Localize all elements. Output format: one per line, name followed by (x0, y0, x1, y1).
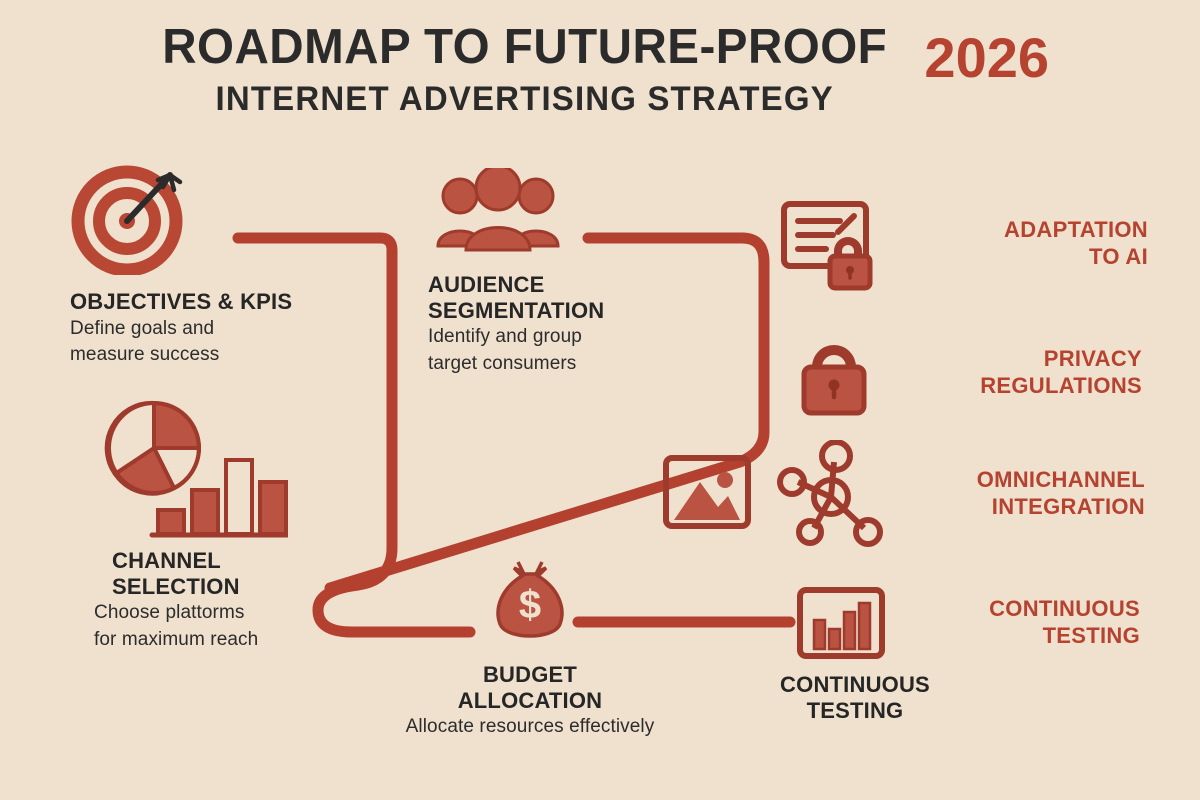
step-objectives-desc-2: measure success (70, 343, 370, 367)
right-label-testing-2: TESTING (989, 623, 1140, 650)
right-item-continuous-testing[interactable]: CONTINUOUS TESTING (795, 585, 1140, 661)
step-audience[interactable]: AUDIENCE SEGMENTATION Identify and group… (428, 168, 688, 376)
right-label-adaptation-1: ADAPTATION (1004, 217, 1148, 244)
step-budget-title-2: ALLOCATION (370, 688, 690, 714)
step-testing-dark-title-2: TESTING (740, 698, 970, 724)
infographic-canvas: ROADMAP TO FUTURE-PROOF INTERNET ADVERTI… (0, 0, 1200, 800)
step-objectives-desc-1: Define goals and (70, 317, 370, 341)
document-lock-icon (778, 196, 883, 291)
step-budget-title-1: BUDGET (370, 662, 690, 688)
step-channel-desc-1: Choose plattorms (94, 601, 358, 625)
step-objectives[interactable]: OBJECTIVES & KPIS Define goals and measu… (70, 160, 370, 367)
step-channel-desc-2: for maximum reach (94, 628, 358, 652)
bar-chart-frame-icon (795, 585, 887, 661)
right-item-privacy[interactable]: PRIVACY REGULATIONS (792, 325, 1142, 420)
step-audience-title-2: SEGMENTATION (428, 298, 688, 324)
step-channel-title-1: CHANNEL (112, 548, 358, 574)
step-channel-title-2: SELECTION (112, 574, 358, 600)
image-photo-icon (660, 450, 758, 538)
step-budget-desc-1: Allocate resources effectively (370, 715, 690, 739)
step-continuous-testing-dark[interactable]: CONTINUOUS TESTING (740, 672, 970, 723)
network-hub-icon (776, 440, 886, 548)
target-icon (70, 160, 190, 275)
right-label-testing-1: CONTINUOUS (989, 596, 1140, 623)
right-item-omnichannel[interactable]: OMNICHANNEL INTEGRATION (660, 440, 1145, 548)
page-title: ROADMAP TO FUTURE-PROOF (162, 22, 887, 73)
step-objectives-title: OBJECTIVES & KPIS (70, 289, 370, 315)
page-subtitle: INTERNET ADVERTISING STRATEGY (216, 77, 834, 123)
right-label-adaptation-2: TO AI (1004, 244, 1148, 271)
step-audience-desc-2: target consumers (428, 352, 688, 376)
header: ROADMAP TO FUTURE-PROOF INTERNET ADVERTI… (0, 22, 1200, 123)
svg-text:$: $ (519, 583, 541, 627)
right-label-omnichannel-2: INTEGRATION (977, 494, 1145, 521)
right-label-omnichannel-1: OMNICHANNEL (977, 467, 1145, 494)
right-label-privacy-2: REGULATIONS (980, 373, 1142, 400)
money-bag-icon: $ (480, 550, 580, 650)
pie-bar-chart-icon (88, 398, 288, 538)
step-audience-desc-1: Identify and group (428, 325, 688, 349)
right-item-adaptation-ai[interactable]: ADAPTATION TO AI (778, 196, 1148, 291)
step-audience-title-1: AUDIENCE (428, 272, 688, 298)
step-budget[interactable]: $ BUDGET ALLOCATION Allocate resources e… (370, 550, 690, 740)
step-testing-dark-title-1: CONTINUOUS (740, 672, 970, 698)
year-badge: 2026 (924, 30, 1049, 86)
padlock-icon (792, 325, 877, 420)
people-group-icon (428, 168, 568, 258)
right-label-privacy-1: PRIVACY (980, 346, 1142, 373)
step-channel[interactable]: CHANNEL SELECTION Choose plattorms for m… (88, 398, 358, 652)
